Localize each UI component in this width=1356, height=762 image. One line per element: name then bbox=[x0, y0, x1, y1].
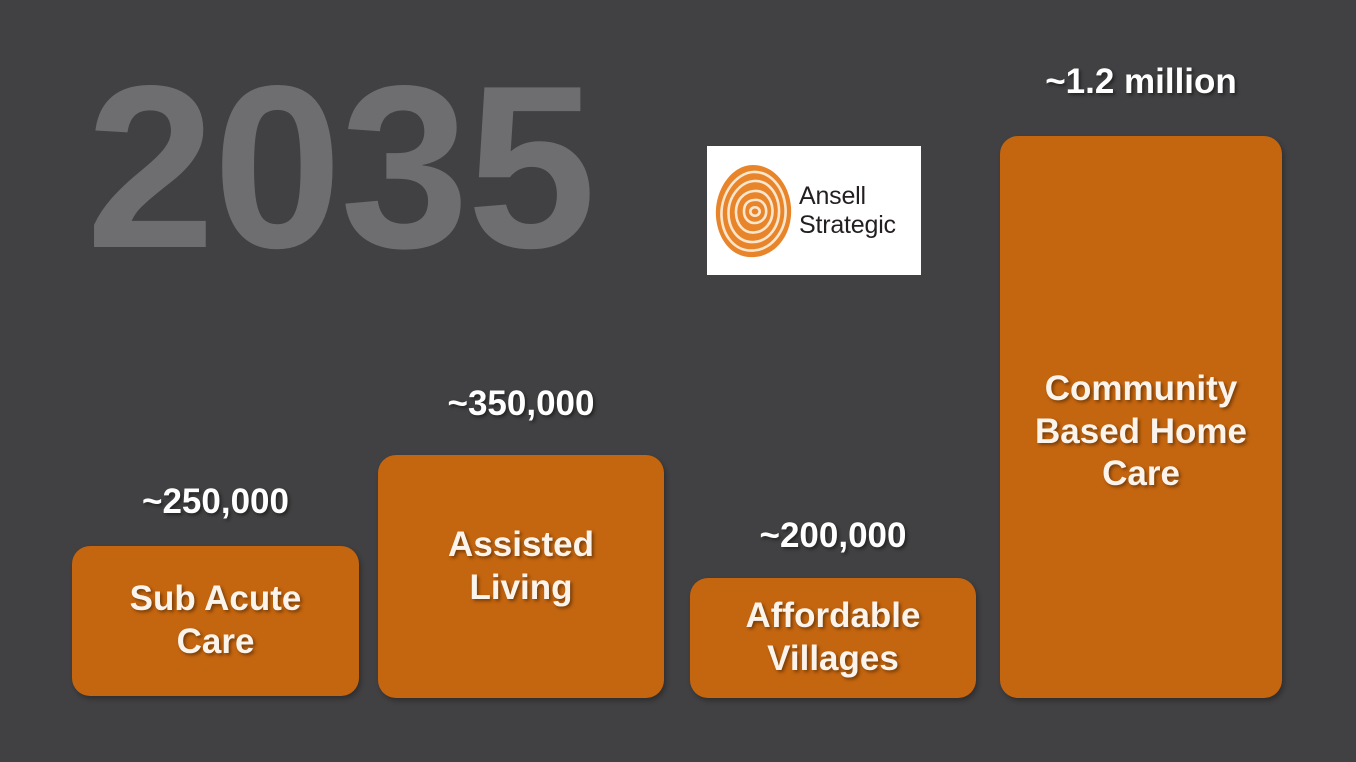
bar-category-line: Assisted bbox=[384, 524, 658, 567]
bar-category-line: Sub Acute bbox=[78, 578, 353, 621]
bar-category-line: Based Home bbox=[1006, 411, 1276, 454]
logo-wordmark-line-2: Strategic bbox=[799, 211, 896, 239]
year-watermark: 2035 bbox=[86, 52, 594, 284]
bar-category-label: Sub Acute Care bbox=[72, 578, 359, 663]
ansell-strategic-logo: Ansell Strategic bbox=[707, 146, 921, 275]
bar-category-label: Community Based Home Care bbox=[1000, 368, 1282, 496]
bar-sub-acute-care[interactable]: Sub Acute Care bbox=[72, 546, 359, 696]
bar-value-label: ~200,000 bbox=[690, 518, 976, 553]
bar-category-line: Care bbox=[78, 621, 353, 664]
bar-value-label: ~1.2 million bbox=[1000, 64, 1282, 99]
bar-category-line: Care bbox=[1006, 453, 1276, 496]
logo-wordmark-line-1: Ansell bbox=[799, 182, 896, 210]
bar-group-assisted-living: ~350,000 Assisted Living bbox=[378, 384, 664, 698]
bar-category-line: Community bbox=[1006, 368, 1276, 411]
bar-category-label: Affordable Villages bbox=[690, 595, 976, 680]
slide-canvas: 2035 Ansell Strategic ~250,000 Sub Acute… bbox=[0, 0, 1356, 762]
bar-affordable-villages[interactable]: Affordable Villages bbox=[690, 578, 976, 698]
bar-group-affordable-villages: ~200,000 Affordable Villages bbox=[690, 516, 976, 698]
bar-category-line: Villages bbox=[696, 638, 970, 681]
bar-group-community-based-home-care: ~1.2 million Community Based Home Care bbox=[1000, 62, 1282, 698]
bar-category-label: Assisted Living bbox=[378, 524, 664, 609]
bar-category-line: Living bbox=[384, 567, 658, 610]
logo-wordmark: Ansell Strategic bbox=[799, 182, 896, 239]
bar-category-line: Affordable bbox=[696, 595, 970, 638]
ansell-concentric-blob-mark bbox=[715, 163, 793, 259]
bar-value-label: ~250,000 bbox=[72, 484, 359, 519]
bar-community-based-home-care[interactable]: Community Based Home Care bbox=[1000, 136, 1282, 698]
bar-assisted-living[interactable]: Assisted Living bbox=[378, 455, 664, 698]
bar-value-label: ~350,000 bbox=[378, 386, 664, 421]
bar-group-sub-acute-care: ~250,000 Sub Acute Care bbox=[72, 480, 359, 696]
